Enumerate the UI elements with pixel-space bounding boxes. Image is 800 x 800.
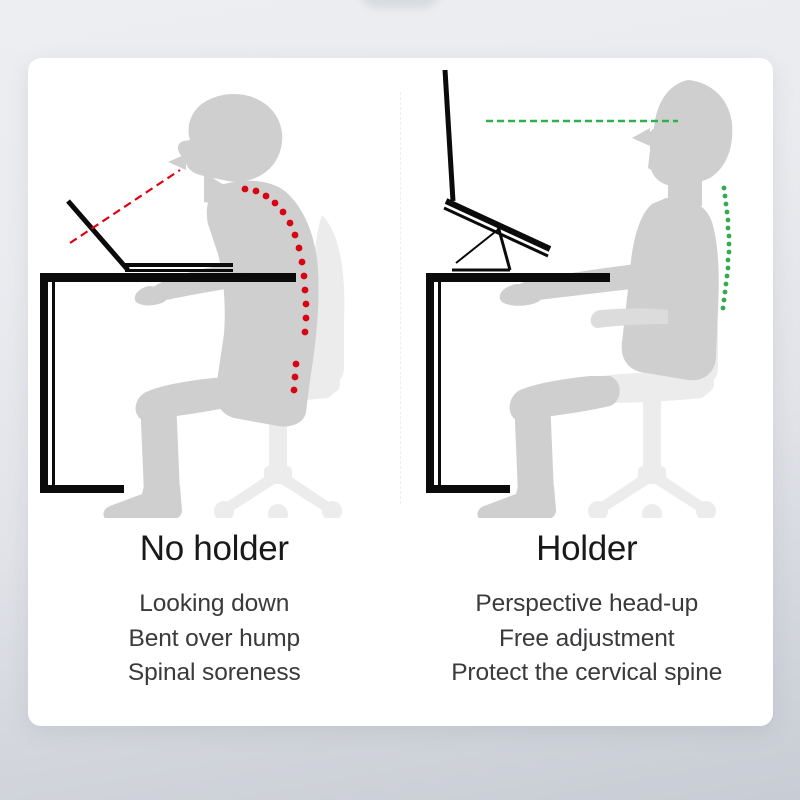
panel-bullet: Bent over hump (28, 622, 401, 657)
panel-title-holder: Holder (401, 528, 774, 570)
illustration-area (28, 58, 773, 518)
panel-bullet: Looking down (28, 587, 401, 622)
panel-bullet: Spinal soreness (28, 656, 401, 691)
spine-dots-green-straight (721, 186, 732, 311)
captions-row: No holder Looking down Bent over hump Sp… (28, 510, 773, 726)
top-notch-shadow (357, 0, 443, 8)
caption-holder: Holder Perspective head-up Free adjustme… (401, 510, 774, 726)
person-silhouette-upright (477, 80, 732, 518)
panel-bullet: Free adjustment (401, 622, 774, 657)
panel-title-no-holder: No holder (28, 528, 401, 570)
illustration-holder (400, 58, 773, 518)
laptop-on-stand (444, 70, 550, 270)
illustration-no-holder (28, 58, 400, 518)
comparison-card: No holder Looking down Bent over hump Sp… (28, 58, 773, 726)
panel-bullet: Perspective head-up (401, 587, 774, 622)
panel-bullet: Protect the cervical spine (401, 656, 774, 691)
sight-line-red-downward (70, 170, 180, 243)
caption-no-holder: No holder Looking down Bent over hump Sp… (28, 510, 401, 726)
